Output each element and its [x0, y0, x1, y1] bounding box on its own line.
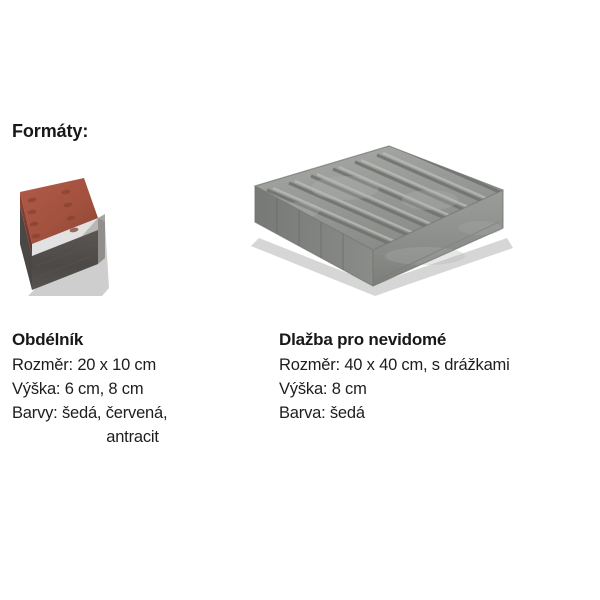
product-spec-rozmer: Rozměr: 20 x 10 cm: [12, 356, 267, 375]
formats-panel: Formáty:: [0, 0, 600, 600]
product-spec-vyska: Výška: 6 cm, 8 cm: [12, 380, 267, 399]
product-spec-barvy-continued: antracit: [12, 428, 267, 447]
page-title: Formáty:: [12, 121, 88, 142]
product-spec-barvy: Barvy: šedá, červená,: [12, 404, 267, 423]
product-title-obdelnik: Obdélník: [12, 330, 267, 350]
product-spec-rozmer: Rozměr: 40 x 40 cm, s drážkami: [279, 356, 599, 375]
product-title-dlazba-pro-nevidome: Dlažba pro nevidomé: [279, 330, 599, 350]
product-spec-barva: Barva: šedá: [279, 404, 599, 423]
product-column-obdelnik: Obdélník Rozměr: 20 x 10 cm Výška: 6 cm,…: [12, 330, 267, 452]
product-column-dlazba-pro-nevidome: Dlažba pro nevidomé Rozměr: 40 x 40 cm, …: [279, 330, 599, 428]
product-image-obdelnik: [6, 160, 121, 305]
product-image-dlazba-pro-nevidome: [225, 138, 525, 308]
product-spec-vyska: Výška: 8 cm: [279, 380, 599, 399]
brick-right-edge: [98, 214, 105, 264]
